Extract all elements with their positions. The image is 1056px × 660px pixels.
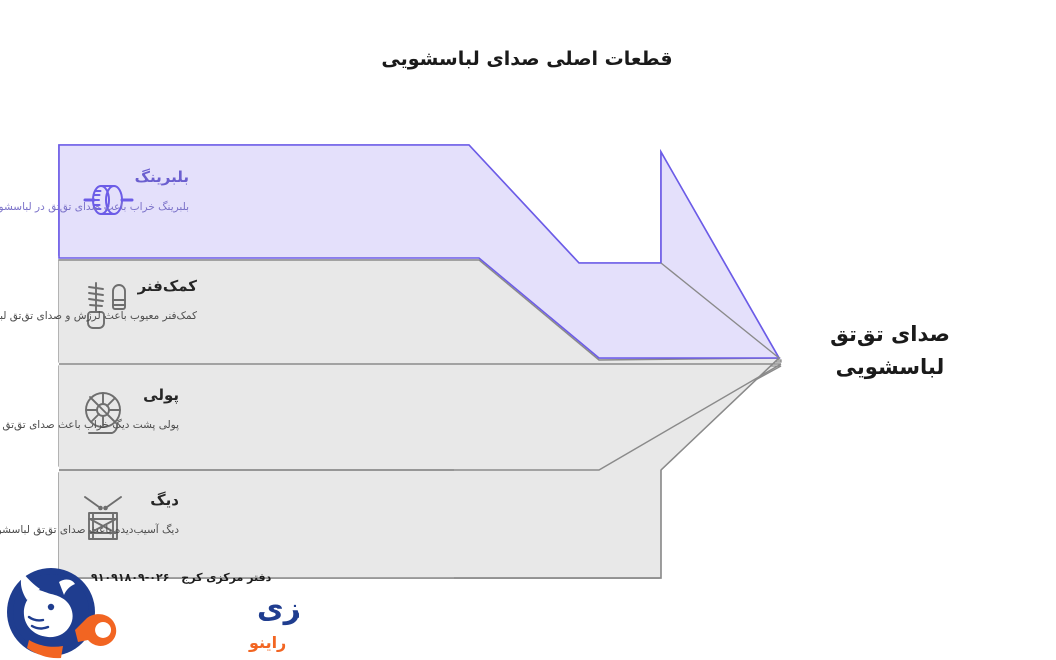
outcome-line-1: صدای تق‌تق (796, 318, 986, 351)
row-pulley[interactable]: پولی پولی پشت دیگ خراب باعث صدای تق‌تق ل… (0, 386, 180, 433)
row-description: کمک‌فنر معیوب باعث لرزش و صدای تق‌تق لبا… (0, 309, 198, 324)
row-description: دیگ آسیب‌دیده باعث صدای تق‌تق لباسشویی م… (0, 523, 180, 538)
company-logo-watermark: کرج مرکزی راینو (0, 560, 300, 660)
arrow-band-4-wedge (455, 358, 780, 578)
band-4-notch (455, 470, 662, 578)
row-label: دیگ (0, 491, 180, 509)
row-bearing[interactable]: بلبرینگ بلبرینگ خراب باعث صدای تق‌تق در … (0, 168, 190, 215)
row-drum[interactable]: دیگ دیگ آسیب‌دیده باعث صدای تق‌تق لباسشو… (0, 491, 180, 538)
outcome-label: صدای تق‌تق لباسشویی (796, 318, 986, 383)
arrow-band-4-taper (660, 358, 780, 578)
row-description: بلبرینگ خراب باعث صدای تق‌تق در لباسشویی… (0, 200, 190, 215)
page-title: قطعات اصلی صدای لباسشویی (0, 48, 1056, 70)
row-label: کمک‌فنر (0, 277, 198, 295)
arrow-tip-edges (662, 263, 780, 470)
watermark-brand-sub: راینو (249, 633, 287, 652)
outcome-line-2: لباسشویی (796, 351, 986, 384)
row-shock-absorber[interactable]: کمک‌فنر کمک‌فنر معیوب باعث لرزش و صدای ت… (0, 277, 198, 324)
row-description: پولی پشت دیگ خراب باعث صدای تق‌تق لباسشو… (0, 418, 180, 433)
rhino-logo-icon (8, 568, 96, 656)
row-label: پولی (0, 386, 180, 404)
infographic-canvas: قطعات اصلی صدای لباسشویی (0, 0, 1056, 660)
row-label: بلبرینگ (0, 168, 190, 186)
watermark-brand-main: کرج مرکزی (258, 591, 300, 625)
